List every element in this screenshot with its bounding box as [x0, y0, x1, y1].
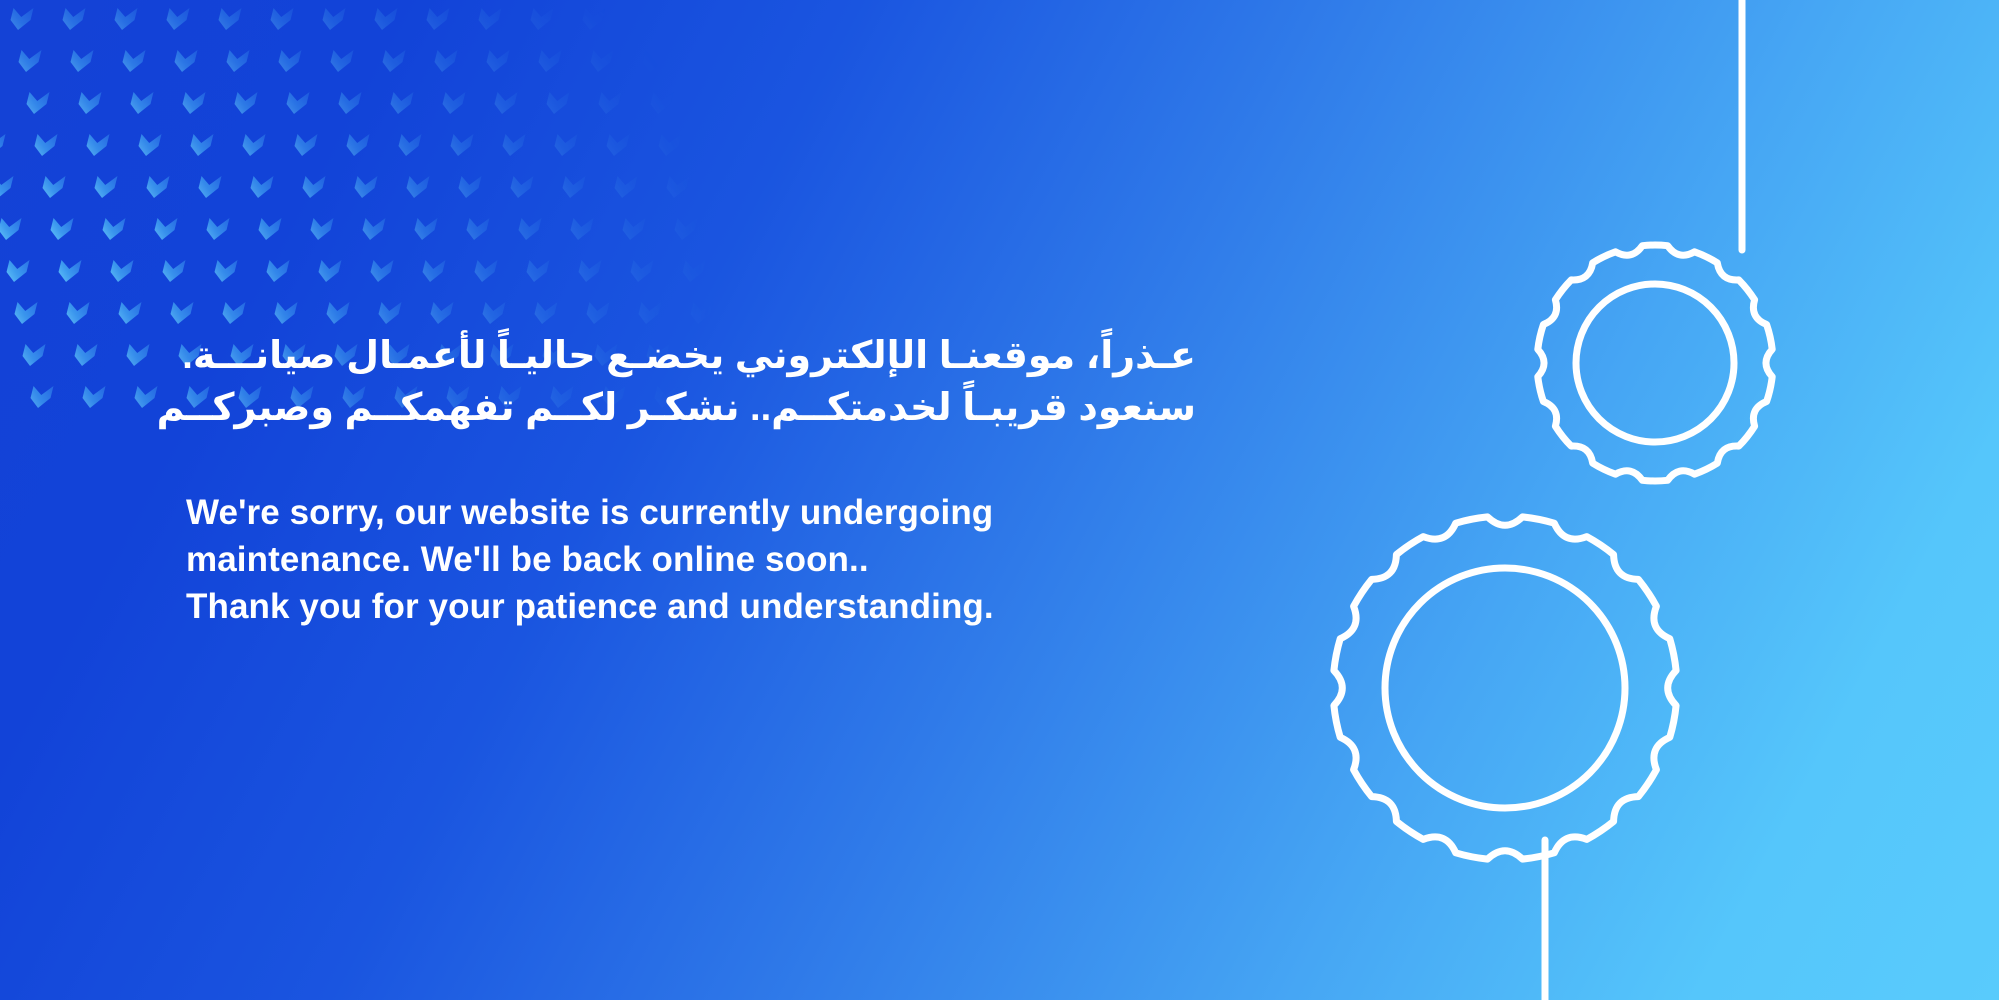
maintenance-page: عـذراً، موقعنـا الإلكتروني يخضـع حاليـاً… [0, 0, 1999, 1000]
small-gear-hub [1576, 284, 1734, 442]
large-gear-hub [1385, 568, 1625, 808]
large-gear-outline [1334, 517, 1676, 859]
arabic-message: عـذراً، موقعنـا الإلكتروني يخضـع حاليـاً… [186, 330, 1196, 435]
arabic-line-2: سنعود قريبـاً لخدمتكــم.. نشكـر لكــم تف… [186, 382, 1196, 434]
english-line-2: maintenance. We'll be back online soon.. [186, 536, 1196, 583]
maintenance-message: عـذراً، موقعنـا الإلكتروني يخضـع حاليـاً… [186, 330, 1196, 631]
small-gear-outline [1538, 245, 1772, 481]
arabic-line-1: عـذراً، موقعنـا الإلكتروني يخضـع حاليـاً… [186, 330, 1196, 382]
english-line-1: We're sorry, our website is currently un… [186, 489, 1196, 536]
english-line-3: Thank you for your patience and understa… [186, 583, 1196, 630]
english-message: We're sorry, our website is currently un… [186, 489, 1196, 631]
